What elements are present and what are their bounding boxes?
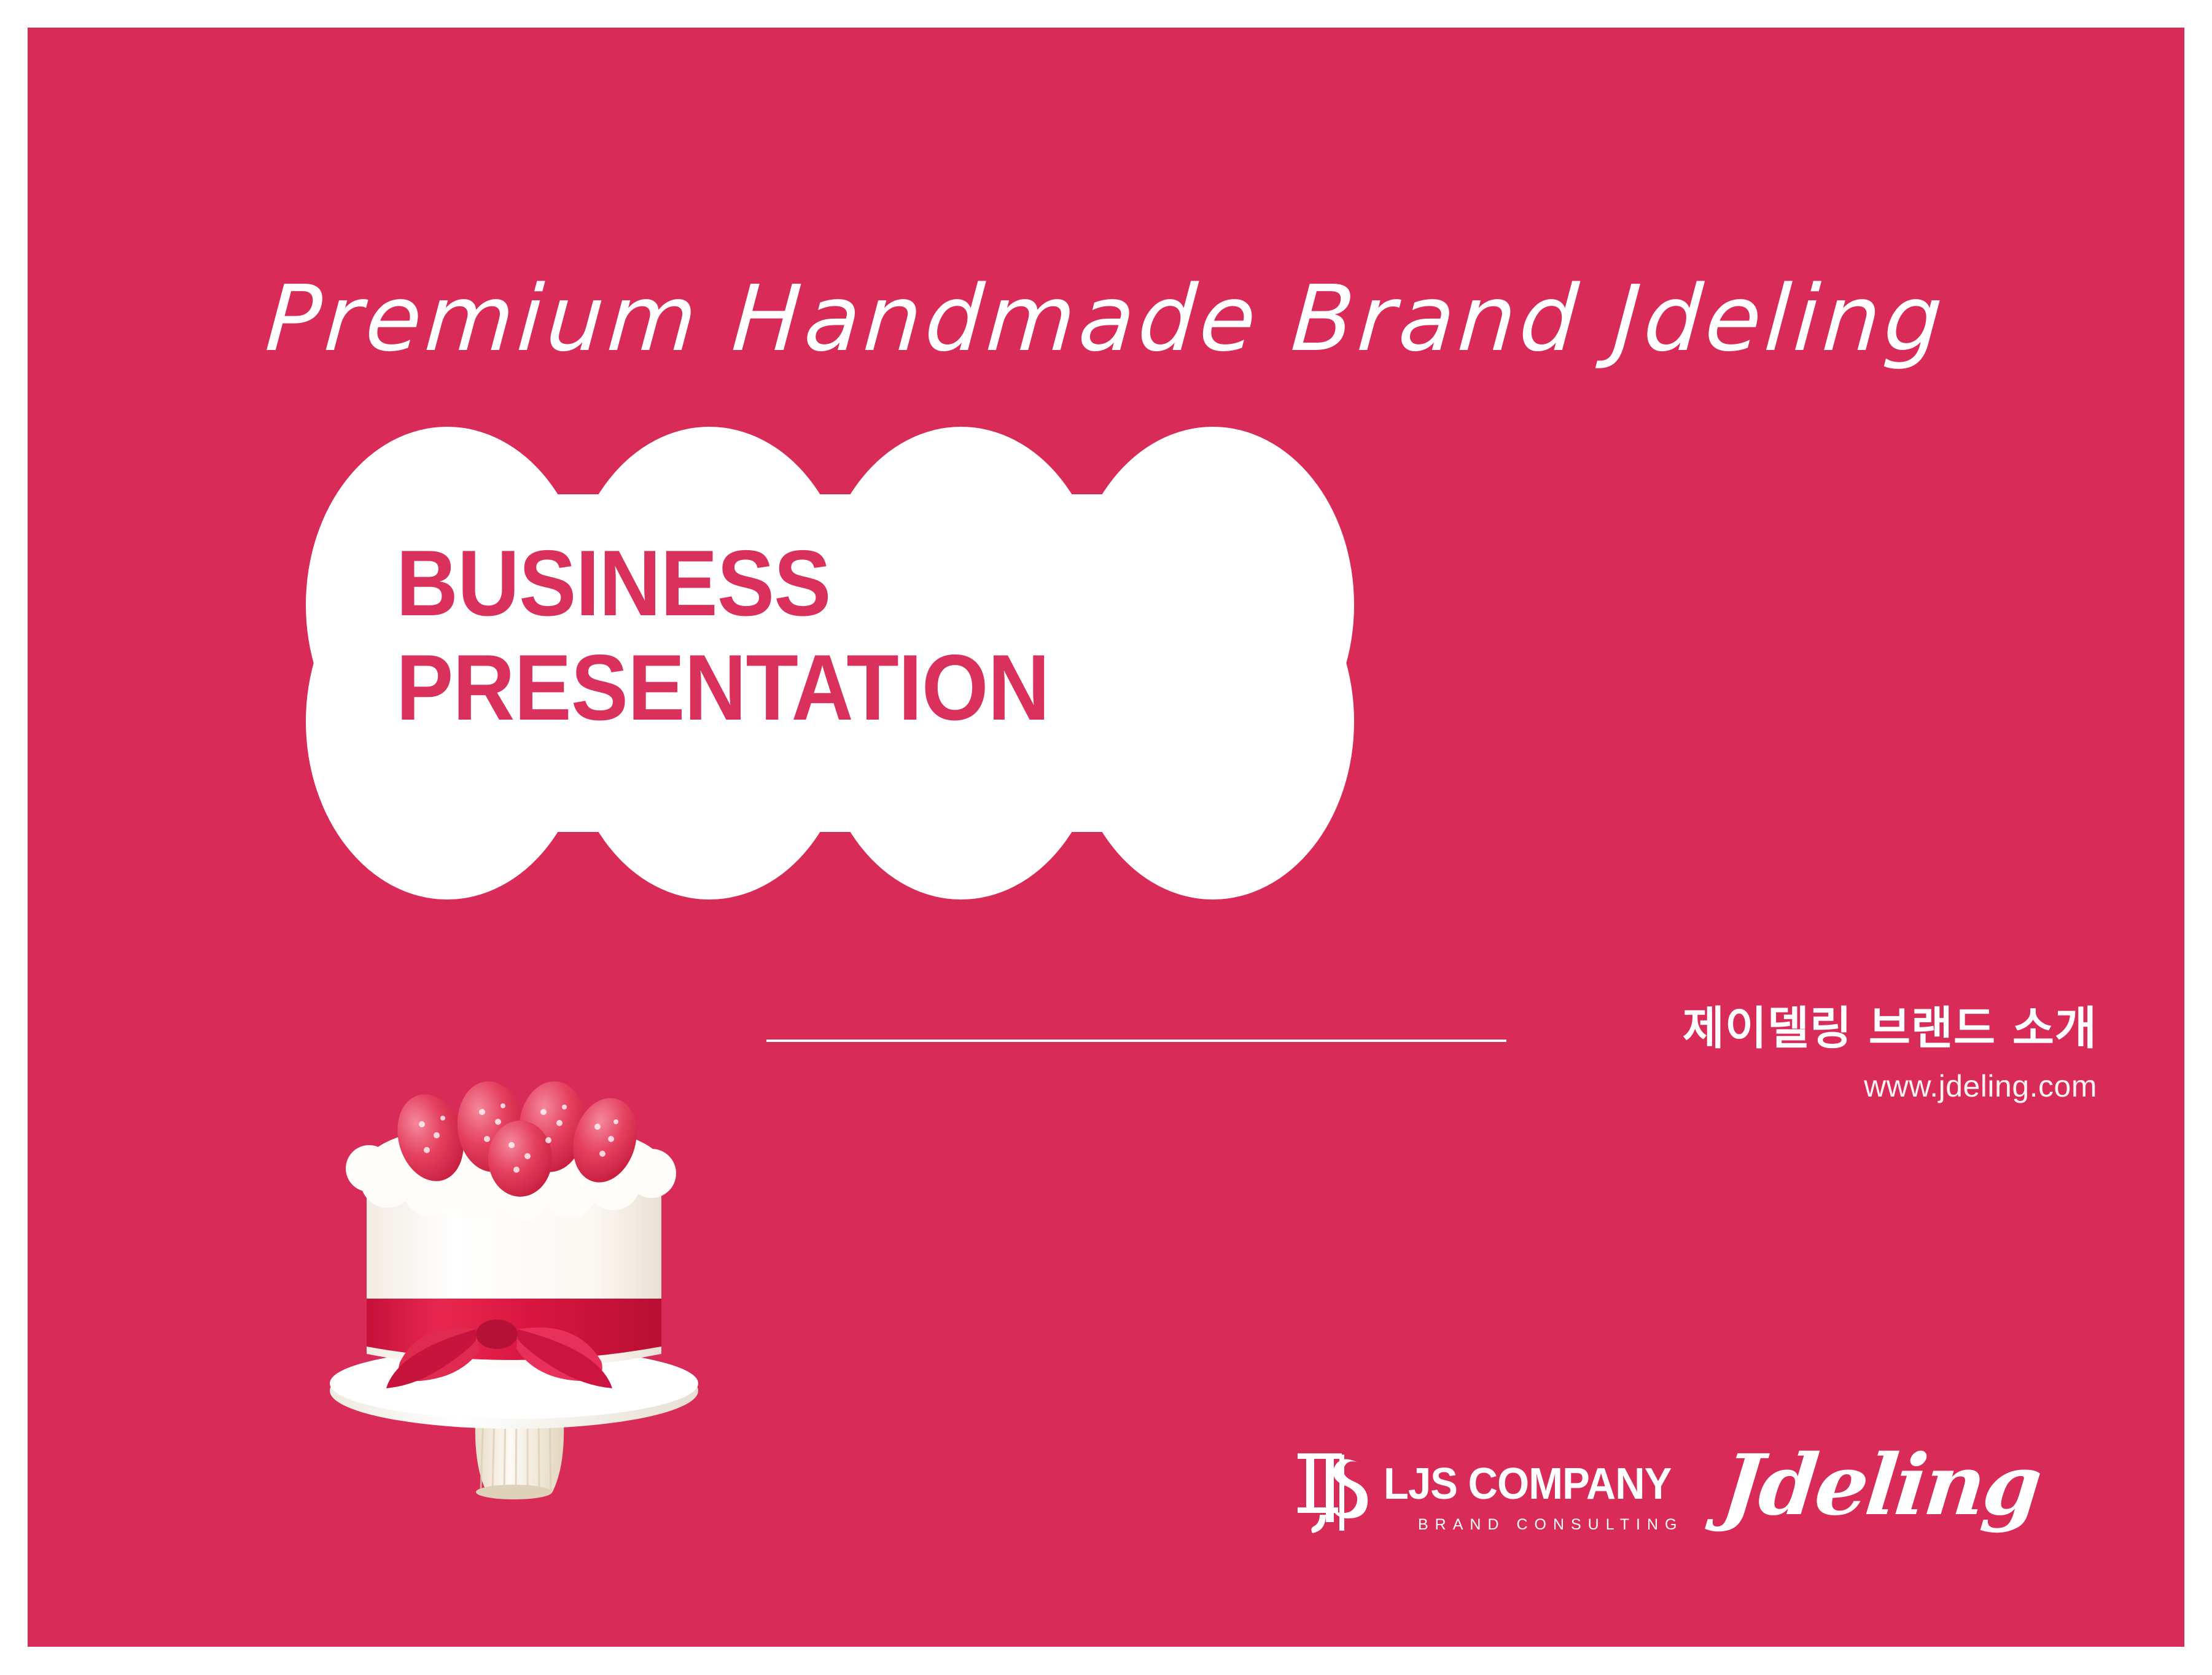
ljs-text-lockup: LJS COMPANY BRAND CONSULTING — [1384, 1462, 1693, 1534]
caption-url: www.jdeling.com — [1342, 1068, 2097, 1104]
title-line-1: BUSINESS — [396, 531, 1198, 635]
powdered-strawberries — [387, 1078, 646, 1197]
strawberry-cake-illustration — [292, 924, 857, 1501]
ljs-tagline: BRAND CONSULTING — [1418, 1516, 1693, 1534]
slide-headline: Premium Handmade Brand Jdeling — [28, 273, 2184, 364]
ljs-company-logo: LJS COMPANY BRAND CONSULTING — [1293, 1451, 1693, 1544]
title-line-2: PRESENTATION — [396, 635, 1198, 740]
jdeling-brand-logo: Jdeling — [1718, 1444, 2044, 1527]
title-badge: BUSINESS PRESENTATION — [298, 421, 1354, 900]
caption-title: 제이델링 브랜드 소개 — [1342, 1004, 2097, 1054]
footer-logos: LJS COMPANY BRAND CONSULTING Jdeling — [1293, 1446, 2017, 1569]
slide-canvas: Premium Handmade Brand Jdeling BUSINESS … — [28, 28, 2184, 1647]
ljs-company-name: LJS COMPANY — [1384, 1462, 1671, 1506]
caption-block: 제이델링 브랜드 소개 www.jdeling.com — [1342, 1004, 2097, 1104]
ljs-monogram-icon — [1293, 1451, 1374, 1544]
title-text-block: BUSINESS PRESENTATION — [396, 531, 1268, 740]
pedestal-foot — [476, 1485, 552, 1499]
